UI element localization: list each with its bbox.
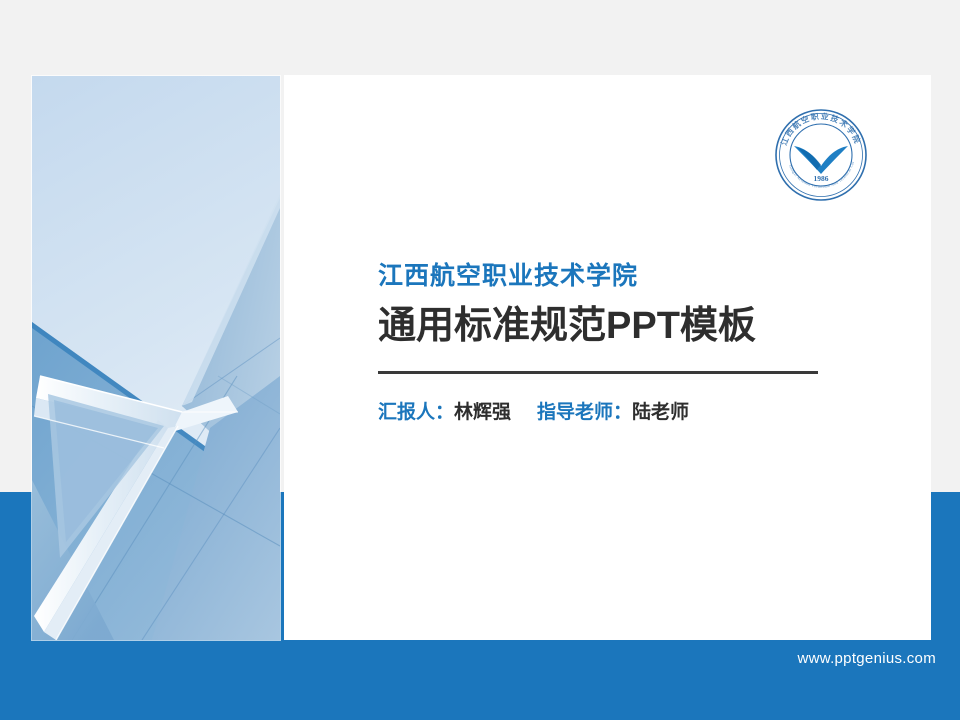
school-name: 江西航空职业技术学院 — [378, 261, 848, 291]
page-title: 通用标准规范PPT模板 — [378, 305, 848, 349]
college-logo-icon: 1986 江西航空职业技术学院 Jiangxi Aviation Vocatio… — [774, 108, 868, 202]
cover-photo — [32, 76, 280, 640]
title-block: 江西航空职业技术学院 通用标准规范PPT模板 汇报人：林辉强指导老师：陆老师 — [378, 261, 848, 425]
presenter-name: 林辉强 — [454, 402, 511, 423]
title-divider — [378, 371, 818, 374]
content-card: 1986 江西航空职业技术学院 Jiangxi Aviation Vocatio… — [284, 75, 931, 640]
footer-url[interactable]: www.pptgenius.com — [0, 650, 936, 667]
advisor-label: 指导老师： — [537, 402, 632, 423]
presentation-slide: 1986 江西航空职业技术学院 Jiangxi Aviation Vocatio… — [0, 0, 960, 720]
presenter-label: 汇报人： — [378, 402, 454, 423]
presenter-line: 汇报人：林辉强指导老师：陆老师 — [378, 401, 848, 426]
cover-photo-artwork — [32, 76, 280, 640]
advisor-name: 陆老师 — [632, 402, 689, 423]
college-logo-artwork: 1986 江西航空职业技术学院 Jiangxi Aviation Vocatio… — [774, 108, 868, 202]
logo-year: 1986 — [814, 174, 829, 183]
